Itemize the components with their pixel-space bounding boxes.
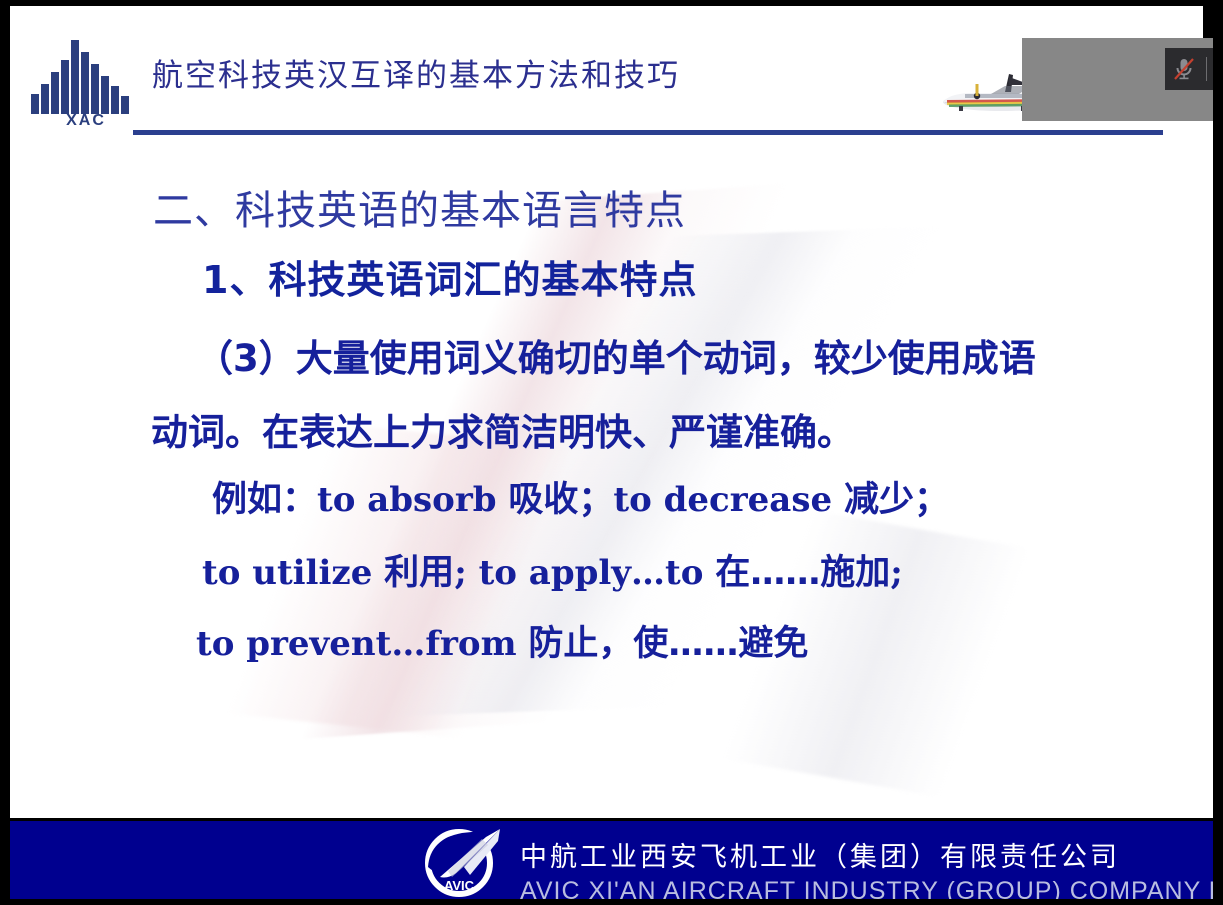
avic-logo-text: AVIC	[444, 878, 475, 893]
example-separator: ；	[914, 480, 949, 520]
subsection-heading: 1、科技英语词汇的基本特点	[202, 249, 697, 304]
capture-frame-notch	[1203, 6, 1223, 38]
header-divider	[133, 130, 1163, 135]
capture-frame-edge	[0, 0, 10, 905]
example-chinese-gloss: 在……施加	[715, 553, 890, 593]
example-english-term: to decrease	[613, 480, 844, 520]
example-line-1: 例如：to absorb 吸收；to decrease 减少；	[212, 471, 949, 522]
example-chinese-gloss: 吸收	[508, 480, 578, 520]
example-english-term: to prevent…from	[196, 624, 528, 664]
example-separator: ;	[890, 553, 903, 593]
paragraph-line-1: （3）大量使用词义确切的单个动词，较少使用成语	[196, 328, 1036, 382]
example-line-3: to prevent…from 防止，使……避免	[196, 615, 808, 666]
example-separator: ;	[454, 553, 478, 593]
section-heading: 二、科技英语的基本语言特点	[153, 178, 686, 236]
example-separator: ；	[578, 480, 613, 520]
example-english-term: to absorb	[317, 480, 508, 520]
paragraph-line-2: 动词。在表达上力求简洁明快、严谨准确。	[151, 402, 854, 456]
example-line-2: to utilize 利用; to apply…to 在……施加;	[202, 544, 903, 595]
page-title: 航空科技英汉互译的基本方法和技巧	[152, 50, 680, 95]
toolbar-divider	[1206, 57, 1207, 81]
slide-footer: AVIC 中航工业西安飞机工业（集团）有限责任公司 AVIC XI'AN AIR…	[10, 818, 1213, 899]
example-english-term: to utilize	[202, 553, 384, 593]
xac-logo: XAC	[31, 40, 141, 135]
footer-company-cn: 中航工业西安飞机工业（集团）有限责任公司	[520, 835, 1120, 874]
avic-bird-logo-icon: AVIC	[412, 827, 512, 899]
presentation-slide: XAC 航空科技英汉互译的基本方法和技巧	[10, 6, 1213, 899]
example-english-term: to apply…to	[479, 553, 716, 593]
capture-frame-edge	[1213, 0, 1223, 905]
capture-frame-edge	[0, 899, 1223, 905]
footer-company-en: AVIC XI'AN AIRCRAFT INDUSTRY (GROUP) COM…	[520, 877, 1213, 899]
xac-tower-logo-icon	[31, 40, 141, 114]
screen-capture: XAC 航空科技英汉互译的基本方法和技巧	[0, 0, 1223, 905]
xac-logo-text: XAC	[31, 112, 141, 130]
example-chinese-gloss: 减少	[844, 480, 914, 520]
example-chinese-gloss: 防止，使……避免	[528, 624, 808, 664]
example-chinese-gloss: 利用	[384, 553, 454, 593]
capture-frame-edge	[0, 0, 1223, 6]
microphone-muted-icon[interactable]	[1169, 54, 1199, 84]
example-lead-label: 例如：	[212, 480, 317, 520]
